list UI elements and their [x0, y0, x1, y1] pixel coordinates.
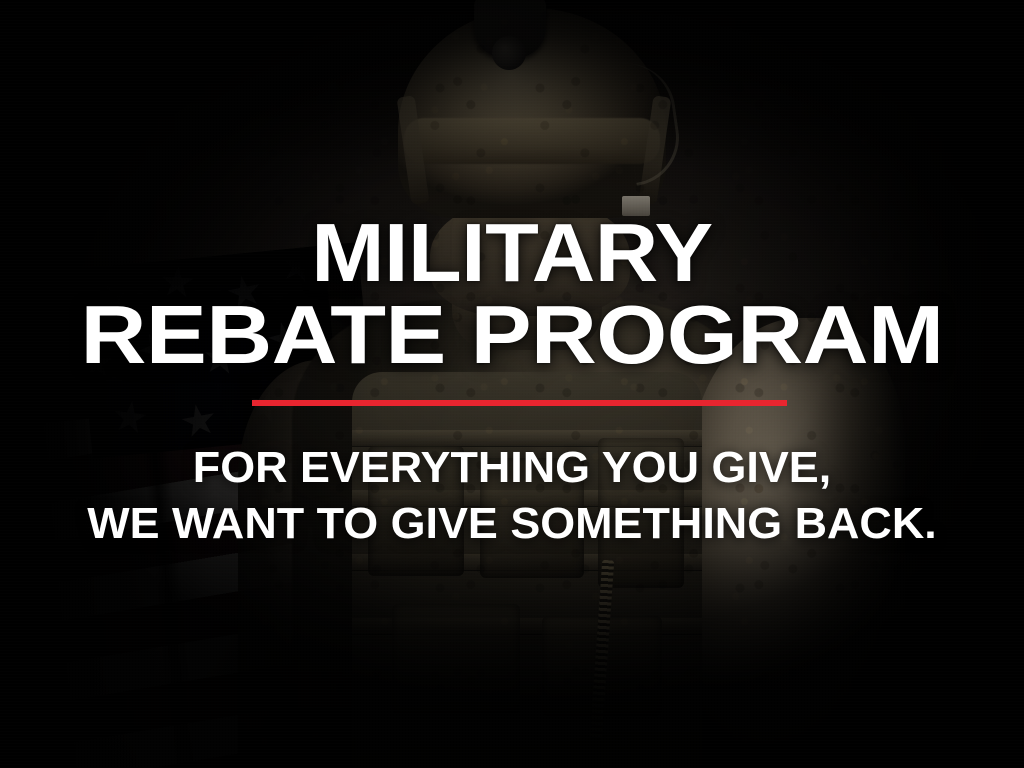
- headline-line-1: MILITARY: [0, 215, 1024, 291]
- headline-line-2: REBATE PROGRAM: [0, 297, 1024, 373]
- military-rebate-banner: MILITARY REBATE PROGRAM FOR EVERYTHING Y…: [0, 0, 1024, 768]
- red-accent-rule: [252, 400, 787, 406]
- subheadline-line-1: FOR EVERYTHING YOU GIVE,: [0, 446, 1024, 490]
- banner-text-content: MILITARY REBATE PROGRAM FOR EVERYTHING Y…: [0, 0, 1024, 768]
- subheadline-line-2: WE WANT TO GIVE SOMETHING BACK.: [0, 502, 1024, 546]
